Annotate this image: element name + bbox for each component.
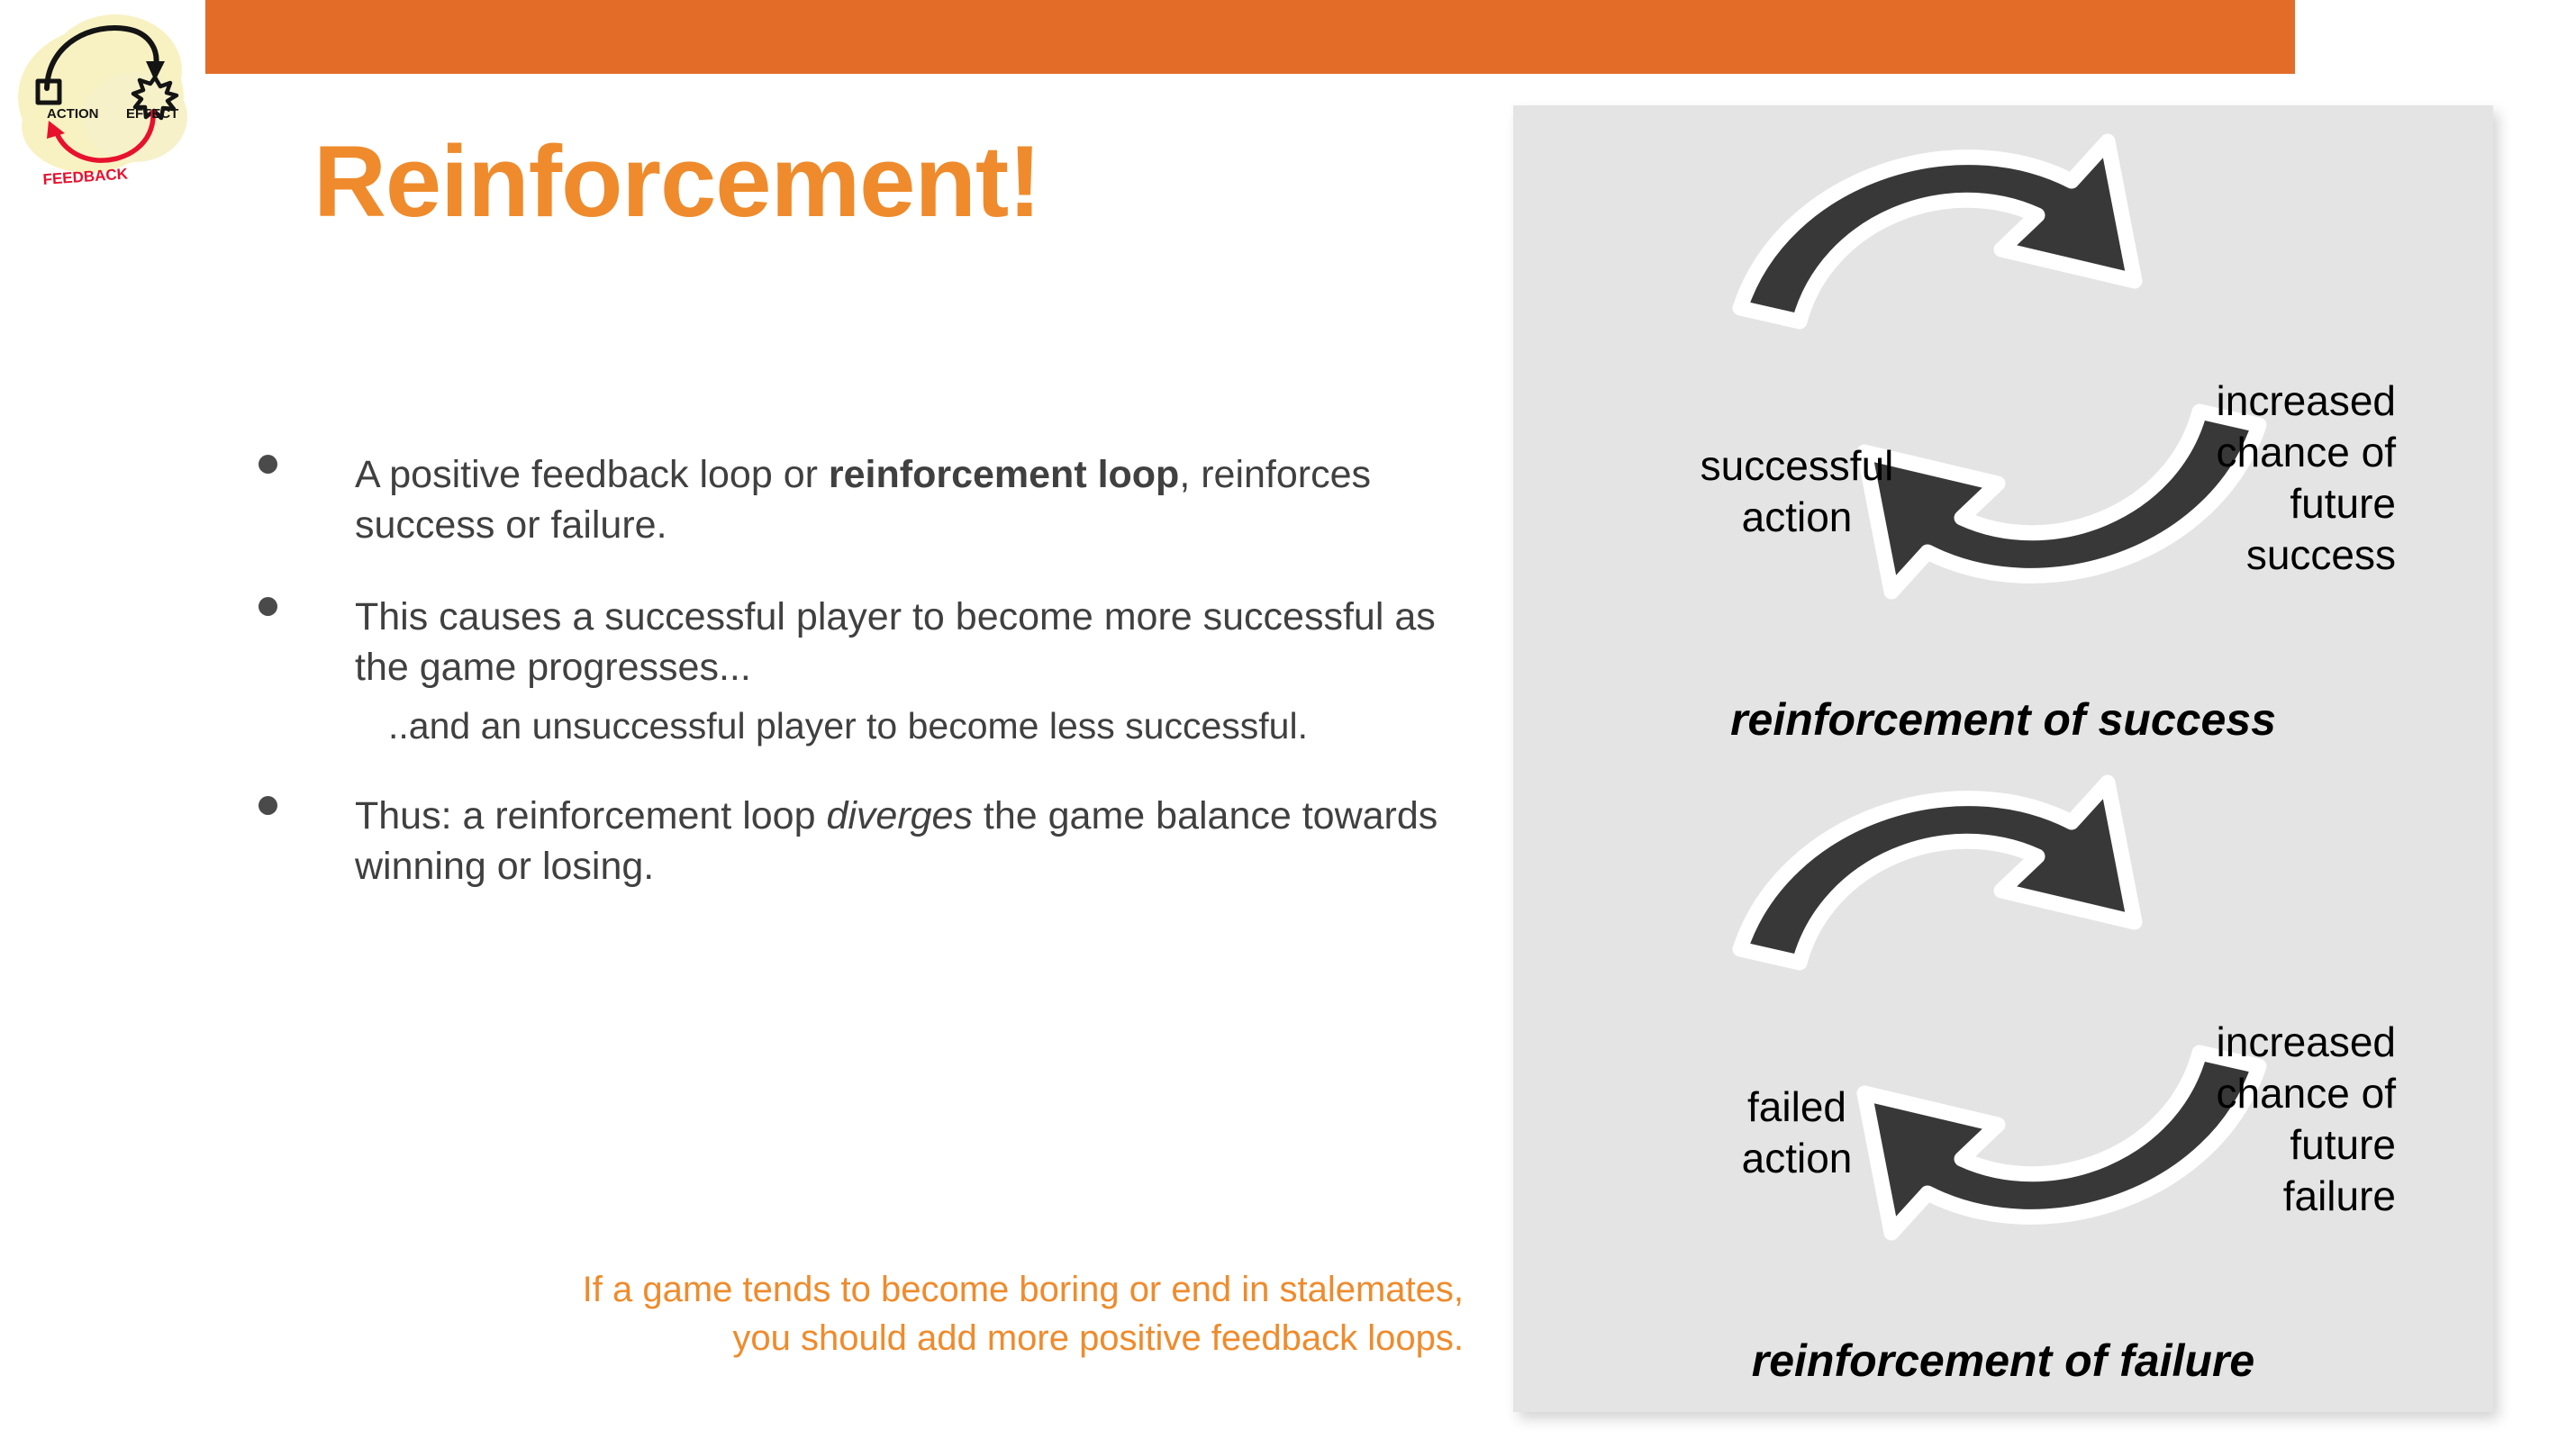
header-accent-bar — [205, 0, 2295, 74]
loop-left-label-line1: failed — [1621, 1082, 1973, 1133]
loop-right-label-line1: increased — [2000, 376, 2396, 427]
reinforcement-of-failure-loop: failed action increased chance of future… — [1513, 747, 2493, 1413]
bullet-text-pre: This causes a successful player to becom… — [355, 595, 1436, 689]
bullet-text-emphasis: reinforcement loop — [829, 453, 1179, 496]
reinforcement-of-success-loop: successful action increased chance of fu… — [1513, 105, 2493, 772]
footnote-line-1: If a game tends to become boring or end … — [243, 1265, 1464, 1314]
loop-right-label-line1: increased — [2000, 1017, 2396, 1068]
logo-blob — [18, 14, 187, 173]
loop-caption-failure: reinforcement of failure — [1513, 1335, 2493, 1387]
logo-feedback-label: FEEDBACK — [42, 165, 129, 188]
bullet-text: This causes a successful player to becom… — [355, 593, 1465, 693]
loop-right-label-line4: success — [2000, 529, 2396, 581]
list-item: A positive feedback loop or reinforcemen… — [249, 450, 1465, 551]
loop-right-label-line2: chance of — [2000, 427, 2396, 478]
bullet-text: Thus: a reinforcement loop diverges the … — [355, 792, 1465, 892]
loop-right-label-line3: future — [2000, 478, 2396, 529]
bullet-list: A positive feedback loop or reinforcemen… — [249, 450, 1465, 934]
loop-left-label-success: successful action — [1621, 440, 1973, 543]
reinforcement-diagram-panel: successful action increased chance of fu… — [1513, 105, 2493, 1412]
bullet-sub-text: ..and an unsuccessful player to become l… — [388, 702, 1465, 750]
loop-left-label-line2: action — [1621, 492, 1973, 543]
footnote-callout: If a game tends to become boring or end … — [243, 1265, 1464, 1362]
logo-effect-label: EFFECT — [126, 106, 178, 122]
list-item: This causes a successful player to becom… — [249, 593, 1465, 750]
loop-right-label-success: increased chance of future success — [2000, 376, 2396, 581]
footnote-line-2: you should add more positive feedback lo… — [243, 1314, 1464, 1362]
arrow-clockwise-top — [1740, 141, 2135, 321]
bullet-text-pre: A positive feedback loop or — [355, 453, 829, 496]
bullet-text-pre: Thus: a reinforcement loop — [355, 794, 826, 837]
loop-right-label-line3: future — [2000, 1119, 2396, 1171]
loop-left-label-line1: successful — [1621, 440, 1973, 492]
loop-right-label-line4: failure — [2000, 1171, 2396, 1222]
loop-left-label-line2: action — [1621, 1133, 1973, 1184]
loop-left-label-failure: failed action — [1621, 1082, 1973, 1184]
bullet-text: A positive feedback loop or reinforcemen… — [355, 450, 1465, 551]
bullet-text-italic: diverges — [826, 794, 973, 837]
page-title: Reinforcement! — [313, 126, 1040, 237]
bullet-dot-icon — [259, 455, 277, 474]
feedback-loop-logo: ACTION EFFECT FEEDBACK — [0, 0, 207, 209]
loop-caption-success: reinforcement of success — [1513, 693, 2493, 746]
list-item: Thus: a reinforcement loop diverges the … — [249, 792, 1465, 892]
logo-action-label: ACTION — [47, 106, 99, 122]
bullet-dot-icon — [259, 796, 277, 815]
arrow-clockwise-top — [1740, 783, 2135, 963]
loop-right-label-failure: increased chance of future failure — [2000, 1017, 2396, 1222]
bullet-dot-icon — [259, 597, 277, 616]
loop-right-label-line2: chance of — [2000, 1068, 2396, 1119]
